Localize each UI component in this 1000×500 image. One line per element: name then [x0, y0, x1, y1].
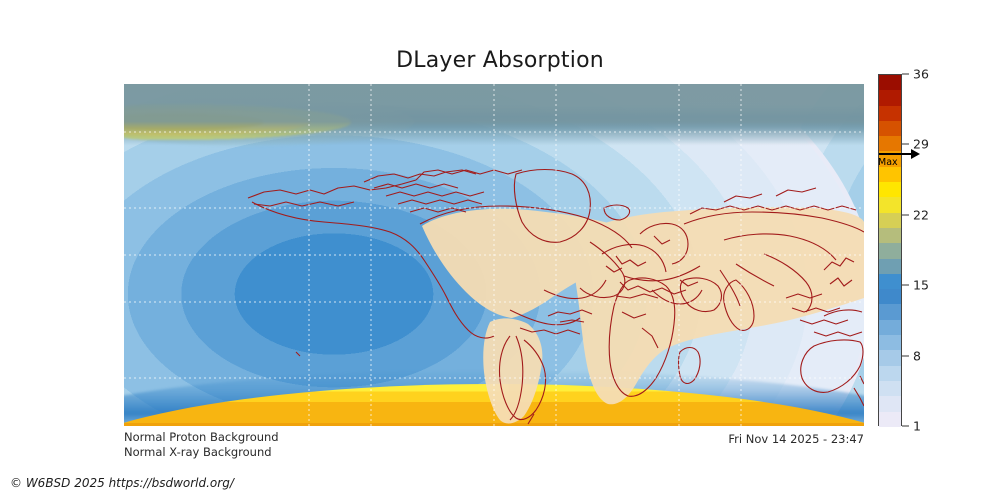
colorbar-band	[879, 412, 901, 427]
colorbar-tick-dash	[902, 426, 909, 427]
colorbar-max-marker: Max	[878, 148, 922, 170]
colorbar-tick: 36	[902, 67, 929, 82]
colorbar-band	[879, 90, 901, 105]
page-title: DLayer Absorption	[0, 48, 1000, 73]
colorbar-tick: 22	[902, 207, 929, 222]
colorbar-band	[879, 243, 901, 258]
colorbar-band	[879, 106, 901, 121]
xray-background-note: Normal X-ray Background	[124, 445, 272, 459]
timestamp: Fri Nov 14 2025 - 23:47	[0, 432, 864, 446]
colorbar-band	[879, 228, 901, 243]
colorbar-tick-dash	[902, 74, 909, 75]
colorbar-band	[879, 121, 901, 136]
colorbar-band	[879, 75, 901, 90]
colorbar-band	[879, 274, 901, 289]
colorbar-tick: 15	[902, 278, 929, 293]
colorbar-band	[879, 320, 901, 335]
colorbar-tick-dash	[902, 144, 909, 145]
coastline-overlay	[124, 84, 864, 426]
colorbar-band	[879, 350, 901, 365]
colorbar-tick-label: 8	[913, 348, 921, 363]
colorbar-band	[879, 381, 901, 396]
colorbar-band	[879, 197, 901, 212]
colorbar-tick-dash	[902, 214, 909, 215]
colorbar-band	[879, 213, 901, 228]
colorbar-band	[879, 259, 901, 274]
copyright-notice[interactable]: © W6BSD 2025 https://bsdworld.org/	[10, 476, 234, 490]
max-marker-label: Max	[878, 157, 898, 168]
colorbar-band	[879, 366, 901, 381]
colorbar-band	[879, 182, 901, 197]
colorbar-band	[879, 304, 901, 319]
colorbar-tick: 8	[902, 348, 921, 363]
colorbar-tick-dash	[902, 355, 909, 356]
colorbar-gradient	[878, 74, 902, 426]
colorbar-tick-label: 1	[913, 419, 921, 434]
colorbar-tick: 1	[902, 419, 921, 434]
colorbar: 1815222936	[878, 74, 902, 426]
colorbar-band	[879, 335, 901, 350]
colorbar-tick-dash	[902, 285, 909, 286]
colorbar-axis-label: Affected Frequency (MHz)	[926, 74, 1000, 426]
dlayer-absorption-figure: DLayer Absorption	[0, 0, 1000, 500]
colorbar-band	[879, 289, 901, 304]
colorbar-band	[879, 396, 901, 411]
world-map-panel[interactable]	[124, 84, 864, 426]
